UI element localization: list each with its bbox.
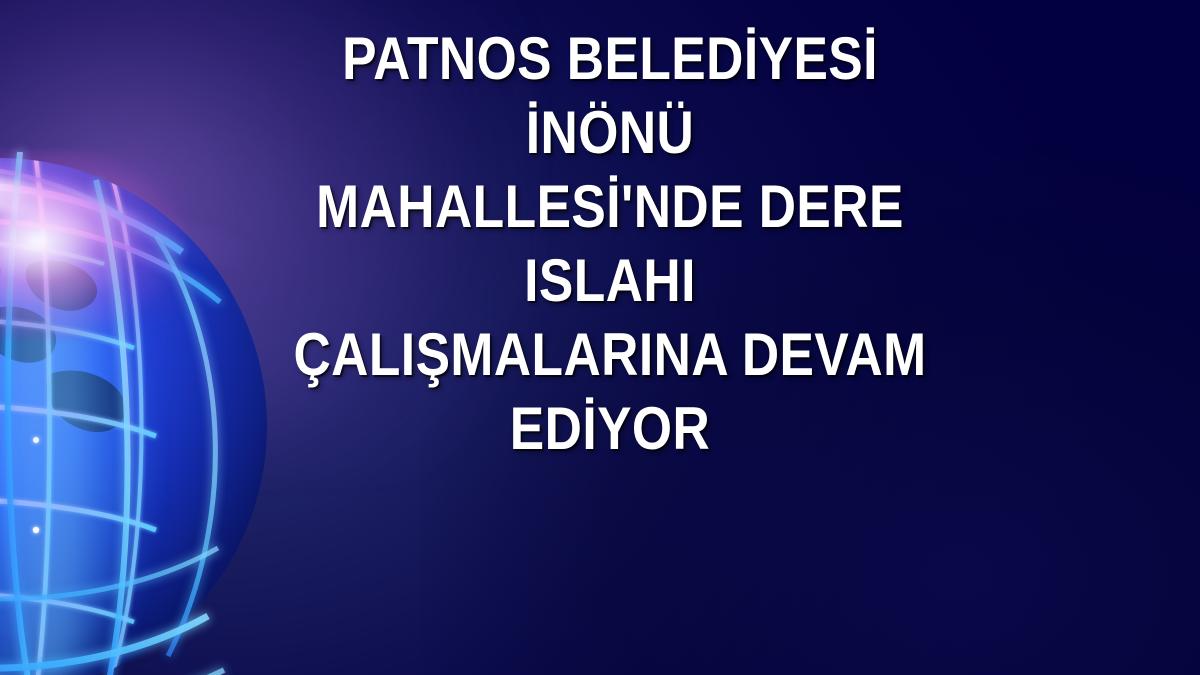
headline-line-6: EDİYOR — [283, 392, 937, 466]
headline-line-2: İNÖNÜ — [283, 96, 937, 170]
headline-line-4: ISLAHI — [283, 244, 937, 318]
headline-line-1: PATNOS BELEDİYESİ — [283, 22, 937, 96]
headline-line-3: MAHALLESİ'NDE DERE — [283, 170, 937, 244]
headline-line-5: ÇALIŞMALARINA DEVAM — [283, 318, 937, 392]
news-thumbnail-canvas: PATNOS BELEDİYESİ İNÖNÜ MAHALLESİ'NDE DE… — [0, 0, 1200, 675]
headline-block: PATNOS BELEDİYESİ İNÖNÜ MAHALLESİ'NDE DE… — [230, 22, 990, 466]
